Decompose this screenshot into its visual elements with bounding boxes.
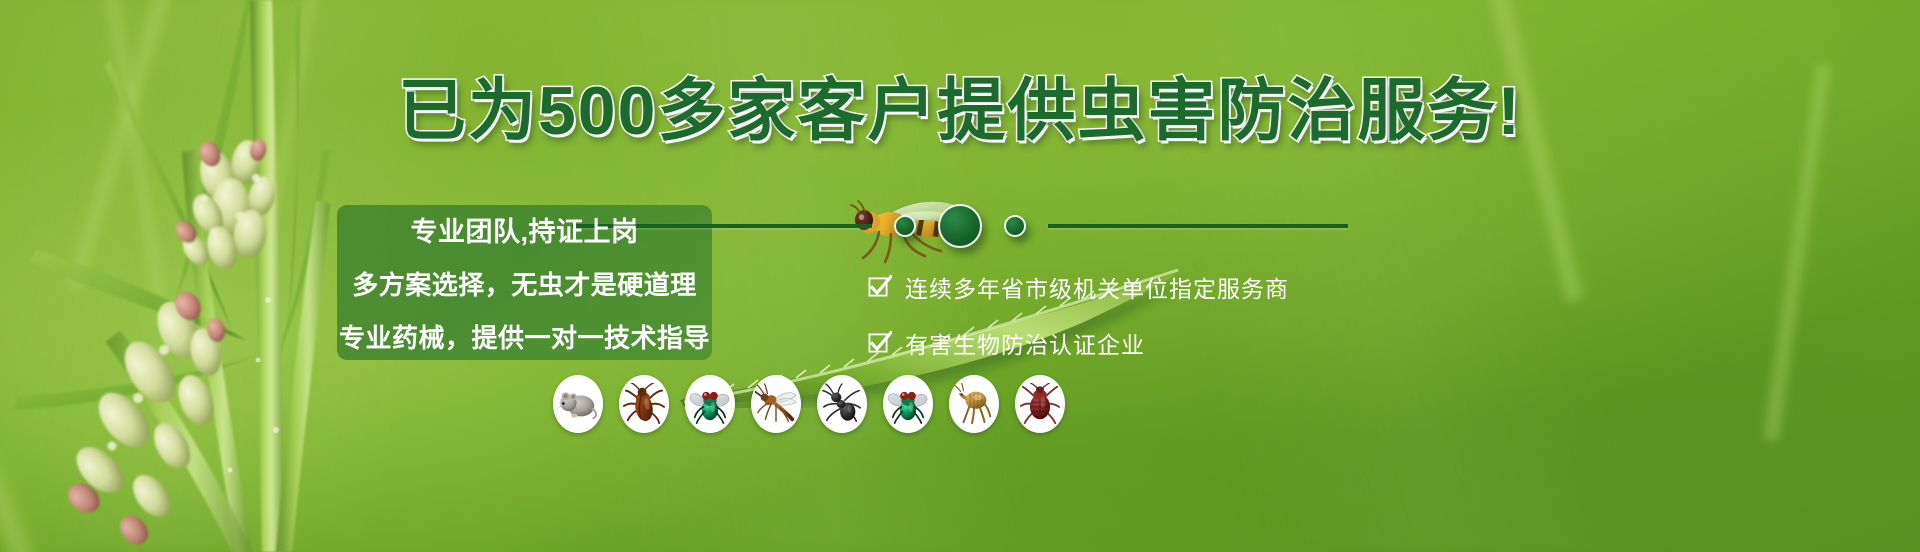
fly-icon (689, 383, 731, 425)
mosquito-icon (755, 383, 797, 425)
checkbox-checked-icon (868, 275, 892, 299)
feature-line-1: 专业团队,持证上岗 (410, 210, 638, 249)
flea-icon (953, 383, 995, 425)
pest-icon-wrapper[interactable] (1015, 375, 1065, 433)
blowfly-icon (887, 383, 929, 425)
feature-line-3: 专业药械，提供一对一技术指导 (339, 318, 710, 355)
divider-rule-right (1048, 224, 1348, 228)
pest-icon-wrapper[interactable] (817, 375, 867, 433)
divider (0, 205, 1920, 247)
feature-panel-text: 专业团队,持证上岗 多方案选择，无虫才是硬道理 专业药械，提供一对一技术指导 (337, 205, 712, 360)
feature-line-2: 多方案选择，无虫才是硬道理 (352, 265, 697, 302)
pest-icon-strip (553, 375, 1065, 433)
pest-icon-wrapper[interactable] (883, 375, 933, 433)
bedbug-icon (1019, 383, 1061, 425)
headline-text: 已为500多家客户提供虫害防治服务! (398, 72, 1522, 150)
pest-icon-wrapper[interactable] (553, 375, 603, 433)
rodent-icon (557, 383, 599, 425)
list-item-label: 连续多年省市级机关单位指定服务商 (905, 270, 1289, 304)
ant-icon (821, 383, 863, 425)
divider-dot-large (938, 204, 982, 248)
pest-icon-wrapper[interactable] (619, 375, 669, 433)
list-item-label: 有害生物防治认证企业 (905, 326, 1145, 360)
pest-icon-wrapper[interactable] (751, 375, 801, 433)
pest-icon-wrapper[interactable] (949, 375, 999, 433)
benefit-list: 连续多年省市级机关单位指定服务商 有害生物防治认证企业 (868, 270, 1289, 360)
checkbox-checked-icon (868, 331, 892, 355)
cockroach-icon (623, 383, 665, 425)
divider-dot-small-left (894, 215, 916, 237)
divider-dot-small-right (1004, 215, 1026, 237)
pest-icon-wrapper[interactable] (685, 375, 735, 433)
list-item: 连续多年省市级机关单位指定服务商 (868, 270, 1289, 304)
page-title: 已为500多家客户提供虫害防治服务! (0, 72, 1920, 150)
list-item: 有害生物防治认证企业 (868, 326, 1289, 360)
promo-banner: 已为500多家客户提供虫害防治服务! 专业团队,持证上岗 多方案选择，无虫才是硬… (0, 0, 1920, 552)
